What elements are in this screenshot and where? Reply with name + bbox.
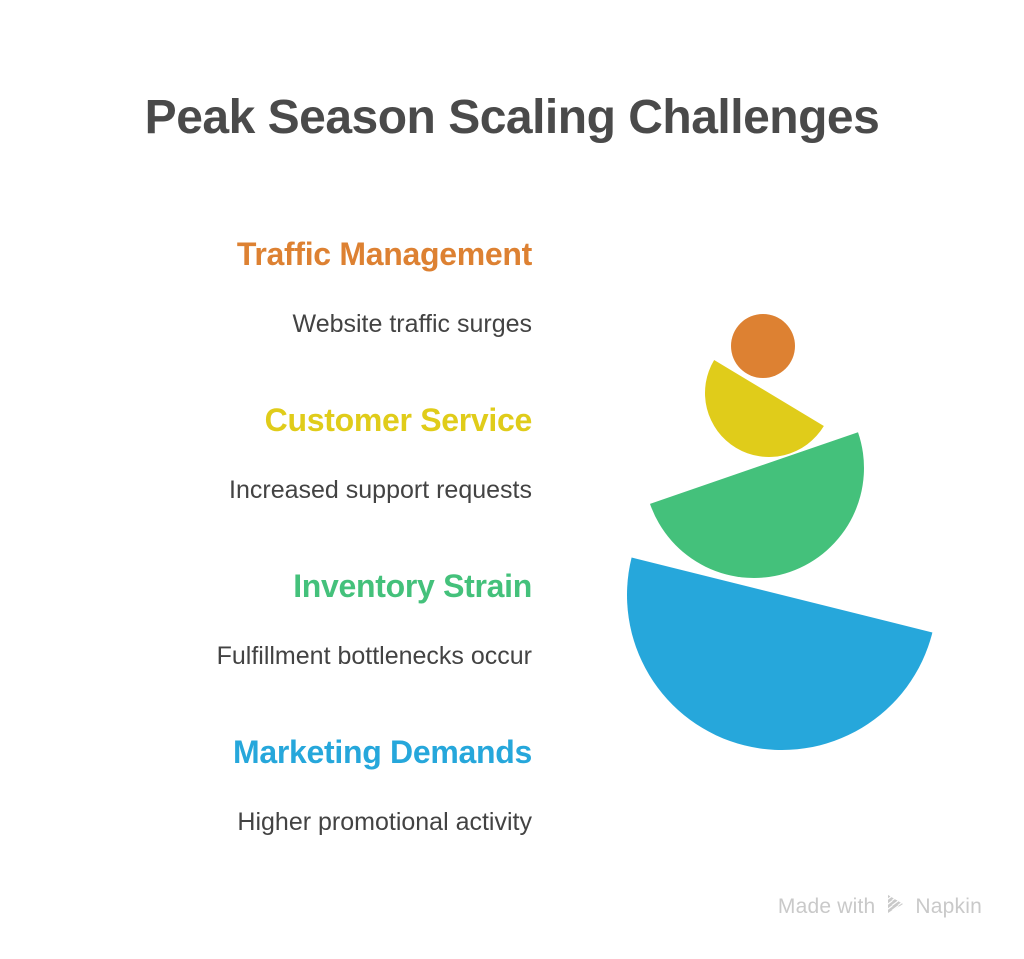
spacer bbox=[60, 436, 532, 478]
napkin-striped-triangle-icon bbox=[884, 893, 906, 921]
spacer bbox=[60, 768, 532, 810]
item-description-customer-service: Increased support requests bbox=[60, 478, 532, 503]
spacer bbox=[60, 669, 532, 736]
spacer bbox=[60, 270, 532, 312]
item-description-inventory-strain: Fulfillment bottlenecks occur bbox=[60, 644, 532, 669]
spacer bbox=[60, 503, 532, 570]
watermark-prefix-label: Made with bbox=[778, 895, 876, 919]
item-heading-customer-service: Customer Service bbox=[60, 404, 532, 436]
item-heading-traffic-management: Traffic Management bbox=[60, 238, 532, 270]
spacer bbox=[60, 602, 532, 644]
blue-semicircle-shape bbox=[600, 558, 932, 780]
list-item: Inventory Strain Fulfillment bottlenecks… bbox=[60, 570, 532, 669]
shapes-svg bbox=[600, 280, 980, 780]
item-heading-inventory-strain: Inventory Strain bbox=[60, 570, 532, 602]
watermark-brand-label: Napkin bbox=[915, 895, 982, 919]
item-description-marketing-demands: Higher promotional activity bbox=[60, 810, 532, 835]
balancing-shapes-illustration bbox=[600, 280, 980, 780]
infographic-canvas: Peak Season Scaling Challenges Traffic M… bbox=[0, 0, 1024, 959]
page-title: Peak Season Scaling Challenges bbox=[0, 92, 1024, 145]
list-item: Traffic Management Website traffic surge… bbox=[60, 238, 532, 337]
list-item: Marketing Demands Higher promotional act… bbox=[60, 736, 532, 835]
napkin-watermark: Made with bbox=[778, 893, 982, 921]
orange-circle-shape bbox=[731, 314, 795, 378]
list-item: Customer Service Increased support reque… bbox=[60, 404, 532, 503]
item-heading-marketing-demands: Marketing Demands bbox=[60, 736, 532, 768]
challenge-list: Traffic Management Website traffic surge… bbox=[60, 238, 532, 835]
item-description-traffic-management: Website traffic surges bbox=[60, 312, 532, 337]
spacer bbox=[60, 337, 532, 404]
